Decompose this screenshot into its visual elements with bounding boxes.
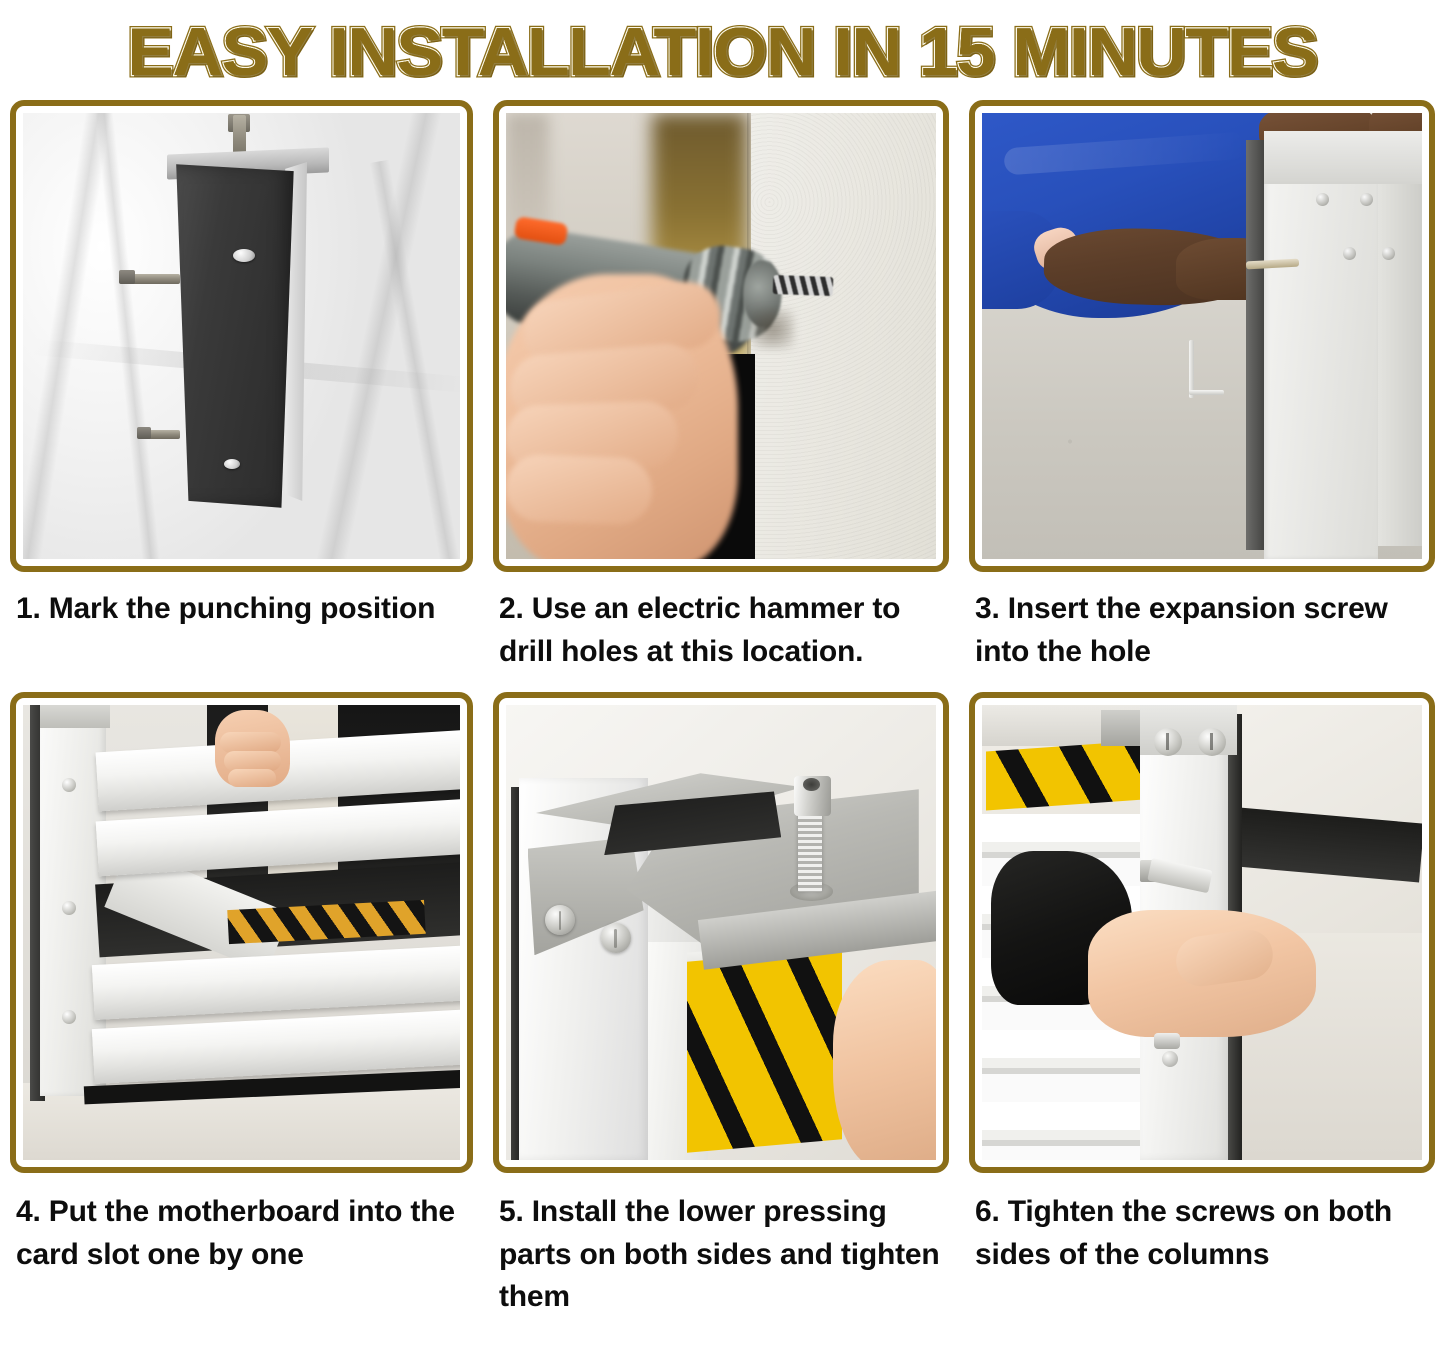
side-bolt-head xyxy=(119,270,135,284)
step-caption-4: 4. Put the motherboard into the card slo… xyxy=(10,1173,473,1308)
finger xyxy=(506,454,653,526)
masonry-drill-bit xyxy=(772,275,833,296)
drill-dust xyxy=(751,309,794,349)
step-caption-3: 3. Insert the expansion screw into the h… xyxy=(969,572,1435,692)
phillips-screw xyxy=(1154,728,1182,756)
step-caption-2: 2. Use an electric hammer to drill holes… xyxy=(493,572,949,692)
hex-bolt-thread xyxy=(798,810,822,892)
step-cell-3: 3. Insert the expansion screw into the h… xyxy=(959,100,1445,692)
column-post xyxy=(174,164,296,507)
mounting-hole xyxy=(224,459,240,469)
phillips-screw xyxy=(1198,728,1226,756)
step-cell-6: 6. Tighten the screws on both sides of t… xyxy=(959,692,1445,1319)
hex-key-wrench xyxy=(1189,390,1224,395)
phillips-screw xyxy=(545,905,575,935)
mounting-hole xyxy=(233,249,255,262)
top-bracket xyxy=(1101,710,1145,746)
expansion-screw xyxy=(1343,247,1356,260)
step-photo-3 xyxy=(982,113,1422,559)
step-photo-2 xyxy=(506,113,936,559)
hazard-stripe-board xyxy=(687,948,842,1153)
hand xyxy=(833,960,936,1160)
title-banner: EASY INSTALLATION IN 15 MINUTES EASY INS… xyxy=(0,0,1445,100)
side-bolt-head xyxy=(137,427,151,439)
page-title: EASY INSTALLATION IN 15 MINUTES EASY INS… xyxy=(127,18,1317,86)
motherboard-panel xyxy=(92,945,460,1020)
step-photo-6 xyxy=(982,705,1422,1160)
step-cell-5: 5. Install the lower pressing parts on b… xyxy=(483,692,959,1319)
column-bolt xyxy=(62,901,76,915)
step-photo-4 xyxy=(23,705,460,1160)
column-top-face xyxy=(1264,131,1422,185)
step-caption-6: 6. Tighten the screws on both sides of t… xyxy=(969,1173,1435,1308)
step-photo-frame-2 xyxy=(493,100,949,572)
step-photo-frame-5 xyxy=(493,692,949,1173)
step-photo-5 xyxy=(506,705,936,1160)
page-title-fill: EASY INSTALLATION IN 15 MINUTES xyxy=(127,18,1317,86)
hazard-stripe-board xyxy=(986,740,1144,810)
fabric-fold xyxy=(92,113,165,559)
step-cell-4: 4. Put the motherboard into the card slo… xyxy=(0,692,483,1319)
steps-grid: 1. Mark the punching position xyxy=(0,100,1445,1319)
finger xyxy=(228,769,276,787)
finger xyxy=(224,751,281,771)
step-caption-5: 5. Install the lower pressing parts on b… xyxy=(493,1173,949,1319)
step-caption-1: 1. Mark the punching position xyxy=(10,572,473,692)
infographic-page: EASY INSTALLATION IN 15 MINUTES EASY INS… xyxy=(0,0,1445,1352)
step-photo-frame-3 xyxy=(969,100,1435,572)
column-side-face xyxy=(1378,135,1422,545)
lower-screw xyxy=(1154,1033,1180,1049)
phillips-screw xyxy=(601,923,631,953)
step-photo-frame-4 xyxy=(10,692,473,1173)
step-photo-frame-1 xyxy=(10,100,473,572)
step-photo-1 xyxy=(23,113,460,559)
step-cell-1: 1. Mark the punching position xyxy=(0,100,483,692)
step-cell-2: 2. Use an electric hammer to drill holes… xyxy=(483,100,959,692)
finger xyxy=(220,732,281,752)
column-top-cap xyxy=(40,705,110,728)
step-photo-frame-6 xyxy=(969,692,1435,1173)
